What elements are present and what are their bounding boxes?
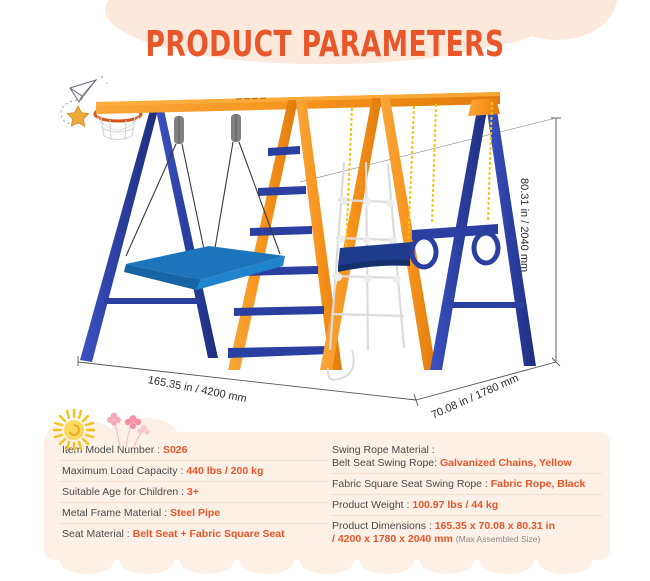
dimension-height-label: 80.31 in / 2040 mm xyxy=(518,178,530,272)
sun-icon xyxy=(52,408,96,452)
spec-list: Item Model Number : S026 Maximum Load Ca… xyxy=(44,432,610,572)
spec-value: Steel Pipe xyxy=(170,507,220,519)
spec-value: 440 lbs / 200 kg xyxy=(186,465,263,477)
spec-value: Belt Seat + Fabric Square Seat xyxy=(133,528,285,540)
ladder-frame xyxy=(228,100,342,370)
spec-row: Fabric Square Seat Swing Rope : Fabric R… xyxy=(330,474,602,495)
spec-value: 3+ xyxy=(187,486,199,498)
spec-row: Maximum Load Capacity : 440 lbs / 200 kg xyxy=(60,461,328,482)
spec-label: Swing Rope Material : xyxy=(332,444,435,456)
spec-value: Fabric Rope, Black xyxy=(491,478,586,490)
spec-row: Metal Frame Material : Steel Pipe xyxy=(60,503,328,524)
spec-row: Product Weight : 100.97 lbs / 44 kg xyxy=(330,495,602,516)
spec-value: 100.97 lbs / 44 kg xyxy=(412,499,498,511)
page-title: PRODUCT PARAMETERS xyxy=(59,24,592,65)
spec-label: Suitable Age for Children : xyxy=(62,486,184,498)
spec-row: Product Dimensions : 165.35 x 70.08 x 80… xyxy=(330,516,602,549)
paper-plane-icon xyxy=(52,74,124,132)
spec-label: Fabric Square Seat Swing Rope : xyxy=(332,478,488,490)
spec-label: Seat Material : xyxy=(62,528,130,540)
spec-row: Suitable Age for Children : 3+ xyxy=(60,482,328,503)
spec-value: Galvanized Chains, Yellow xyxy=(440,457,572,469)
left-a-frame xyxy=(80,110,218,362)
spec-label: Product Weight : xyxy=(332,499,409,511)
spec-column-right: Swing Rope Material : Belt Seat Swing Ro… xyxy=(330,440,602,549)
spec-column-left: Item Model Number : S026 Maximum Load Ca… xyxy=(60,440,328,544)
spec-sublabel-wrap: Belt Seat Swing Rope: Galvanized Chains,… xyxy=(332,457,600,470)
spec-sublabel: Belt Seat Swing Rope: xyxy=(332,457,437,469)
spec-note: (Max Assembled Size) xyxy=(456,534,541,544)
flowers-icon xyxy=(96,406,152,450)
spec-label: Maximum Load Capacity : xyxy=(62,465,183,477)
spec-row: Seat Material : Belt Seat + Fabric Squar… xyxy=(60,524,328,544)
spec-label: Metal Frame Material : xyxy=(62,507,167,519)
spec-label: Product Dimensions : xyxy=(332,520,432,532)
spec-value-line2: / 4200 x 1780 x 2040 mm xyxy=(332,533,453,545)
spec-value: S026 xyxy=(163,444,188,456)
spec-value-line2-wrap: / 4200 x 1780 x 2040 mm (Max Assembled S… xyxy=(332,533,600,546)
spec-row: Swing Rope Material : Belt Seat Swing Ro… xyxy=(330,440,602,474)
spec-value: 165.35 x 70.08 x 80.31 in xyxy=(435,520,555,532)
